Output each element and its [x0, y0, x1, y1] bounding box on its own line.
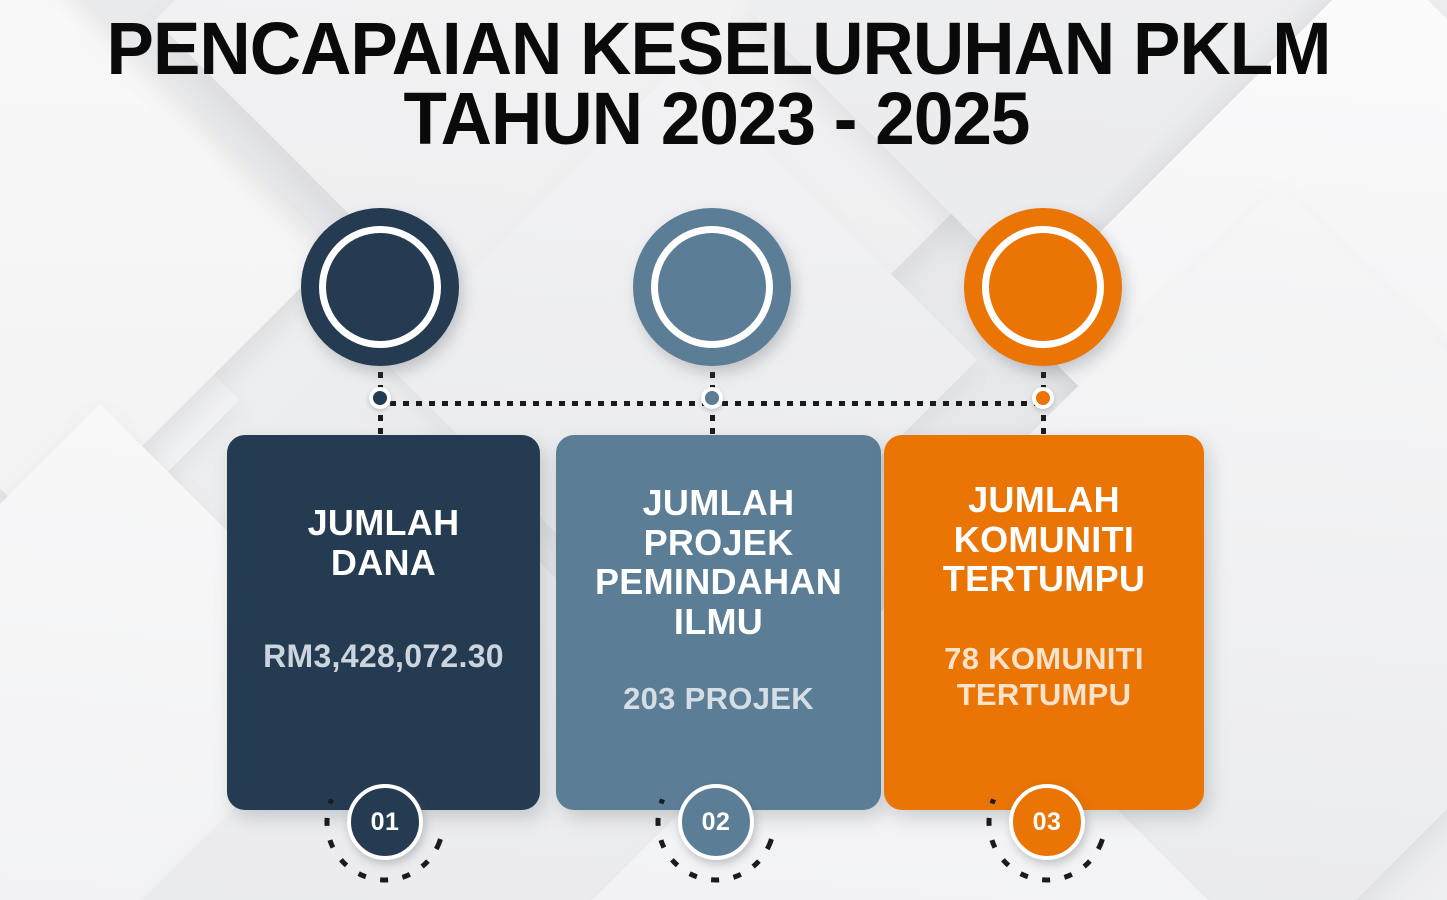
step-badge-3: 03 [1009, 784, 1085, 860]
stat-card-value-2: 203 PROJEK [623, 681, 814, 718]
stat-card-title-3: JUMLAH KOMUNITI TERTUMPU [943, 480, 1145, 599]
stat-card-2[interactable]: JUMLAH PROJEK PEMINDAHAN ILMU 203 PROJEK [556, 435, 881, 810]
stat-card-title-1: JUMLAH DANA [308, 503, 460, 582]
step-badge-wrap-3: 03 [982, 757, 1112, 887]
stat-card-1[interactable]: JUMLAH DANA RM3,428,072.30 [227, 435, 540, 810]
step-badge-1: 01 [347, 784, 423, 860]
step-badge-wrap-1: 01 [320, 757, 450, 887]
stat-card-value-1: RM3,428,072.30 [263, 638, 504, 676]
page-title-line-2: TAHUN 2023 - 2025 [15, 84, 1418, 154]
page-title-line-1: PENCAPAIAN KESELURUHAN PKLM [19, 14, 1418, 84]
infographic-canvas: PENCAPAIAN KESELURUHAN PKLM TAHUN 2023 -… [0, 0, 1447, 900]
step-badge-2: 02 [678, 784, 754, 860]
stat-card-value-3: 78 KOMUNITI TERTUMPU [944, 641, 1144, 714]
stat-card-title-2: JUMLAH PROJEK PEMINDAHAN ILMU [595, 483, 842, 641]
page-title: PENCAPAIAN KESELURUHAN PKLM TAHUN 2023 -… [0, 14, 1447, 154]
step-badge-wrap-2: 02 [651, 757, 781, 887]
stat-card-3[interactable]: JUMLAH KOMUNITI TERTUMPU 78 KOMUNITI TER… [884, 435, 1204, 810]
